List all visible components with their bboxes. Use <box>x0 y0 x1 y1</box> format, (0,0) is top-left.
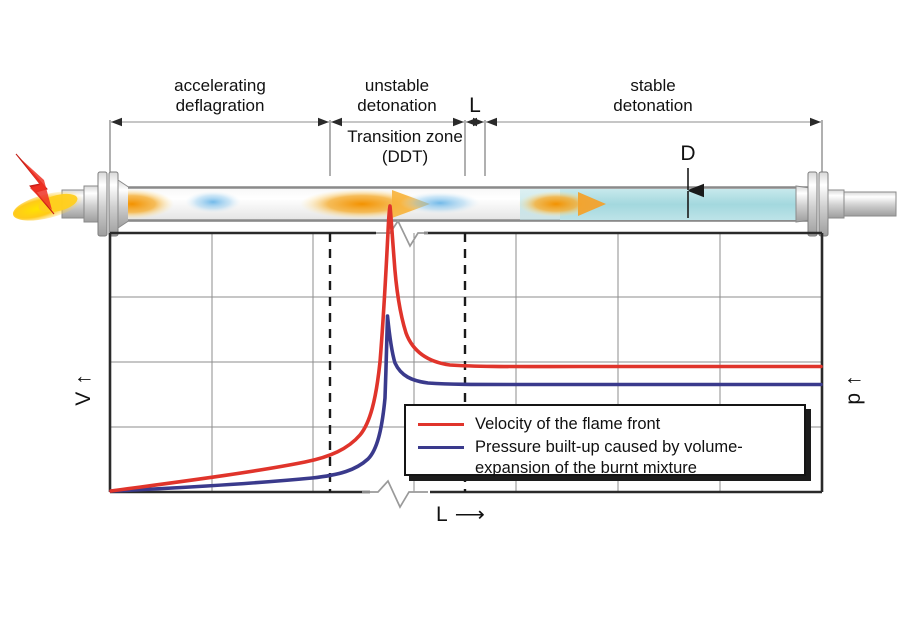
axis-label-pressure-arrow: ↑ <box>842 375 866 386</box>
axis-label-pressure-text: p <box>842 393 866 405</box>
legend-item-pressure: Pressure built-up caused by volume- expa… <box>418 437 794 479</box>
axis-label-length-arrow: ⟶ <box>455 502 485 527</box>
axis-label-velocity: V ↑ <box>56 362 112 418</box>
axis-break-bottom <box>362 481 428 507</box>
legend-item-velocity: Velocity of the flame front <box>418 414 794 435</box>
zone-label-unstable-detonation: unstable detonation <box>322 76 472 116</box>
transition-zone-label: Transition zone (DDT) <box>325 127 485 167</box>
pipe-assembly <box>62 172 896 236</box>
legend-swatch-pressure <box>418 446 464 449</box>
legend-label-velocity: Velocity of the flame front <box>475 414 660 435</box>
axis-label-pressure: p ↑ <box>826 362 882 418</box>
chart-legend: Velocity of the flame front Pressure bui… <box>404 404 806 476</box>
axis-label-length-text: L <box>436 503 448 527</box>
zone-label-stable-detonation: stable detonation <box>573 76 733 116</box>
zone-label-accelerating-deflagration: accelerating deflagration <box>140 76 300 116</box>
axis-label-velocity-arrow: ↑ <box>72 374 96 385</box>
axis-label-length: L ⟶ <box>436 502 485 527</box>
legend-swatch-velocity <box>418 423 464 426</box>
axis-label-velocity-text: V <box>72 392 96 406</box>
axis-break-top <box>376 221 428 246</box>
figure-root: accelerating deflagration unstable deton… <box>0 0 900 637</box>
dimension-label-L: L <box>462 94 488 119</box>
legend-label-pressure: Pressure built-up caused by volume- expa… <box>475 437 743 479</box>
dimension-label-D: D <box>675 142 701 167</box>
